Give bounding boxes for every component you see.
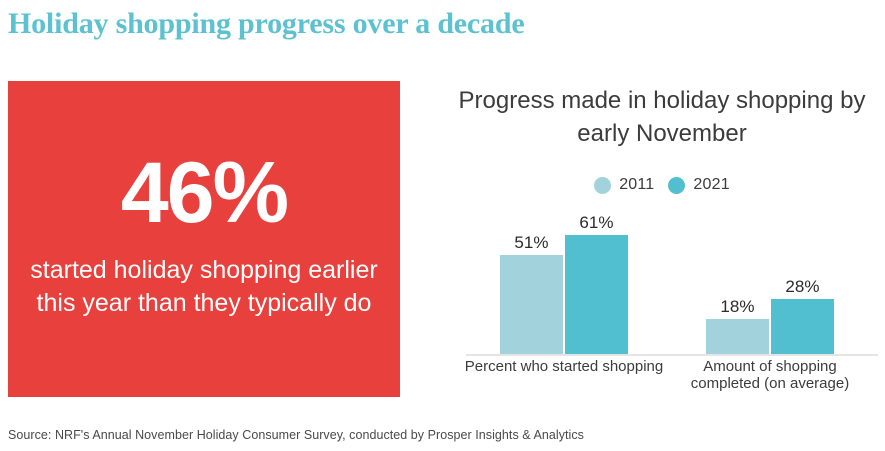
bar-chart: Progress made in holiday shopping by ear…: [446, 81, 878, 397]
bar-rect-2011: [706, 319, 769, 354]
bar-rect-2021: [771, 299, 834, 354]
legend-swatch-icon-2021: [668, 177, 685, 194]
stat-highlight-panel: 46% started holiday shopping earlier thi…: [8, 81, 400, 397]
bar-rect-2011: [500, 255, 563, 354]
chart-legend: 2011 2021: [446, 176, 878, 194]
bar-value-label: 61%: [579, 213, 613, 233]
legend-item-2011: 2011: [594, 176, 654, 194]
legend-swatch-icon-2011: [594, 177, 611, 194]
bar-value-label: 18%: [720, 297, 754, 317]
plot-area: 51% 61% 18% 28%: [466, 206, 878, 356]
source-note: Source: NRF's Annual November Holiday Co…: [8, 428, 584, 442]
bar-group: 51% 61%: [499, 206, 629, 354]
x-axis-category-label: Amount of shopping completed (on average…: [670, 358, 870, 392]
x-axis-category-label: Percent who started shopping: [464, 358, 664, 375]
stat-value: 46%: [121, 148, 287, 238]
legend-label-2011: 2011: [619, 176, 654, 194]
bar-value-label: 51%: [514, 233, 548, 253]
x-axis-labels: Percent who started shopping Amount of s…: [466, 358, 878, 398]
bar-value-label: 28%: [785, 277, 819, 297]
legend-label-2021: 2021: [693, 176, 729, 194]
chart-title: Progress made in holiday shopping by ear…: [446, 84, 878, 150]
page-title: Holiday shopping progress over a decade: [8, 6, 708, 42]
bar-item: 51%: [500, 233, 563, 354]
x-axis-line: [466, 354, 878, 356]
bar-item: 61%: [565, 213, 628, 354]
bar-item: 28%: [771, 277, 834, 354]
legend-item-2021: 2021: [668, 176, 729, 194]
bar-group: 18% 28%: [705, 206, 835, 354]
bar-rect-2021: [565, 235, 628, 354]
stat-caption: started holiday shopping earlier this ye…: [24, 254, 384, 320]
bar-item: 18%: [706, 297, 769, 354]
